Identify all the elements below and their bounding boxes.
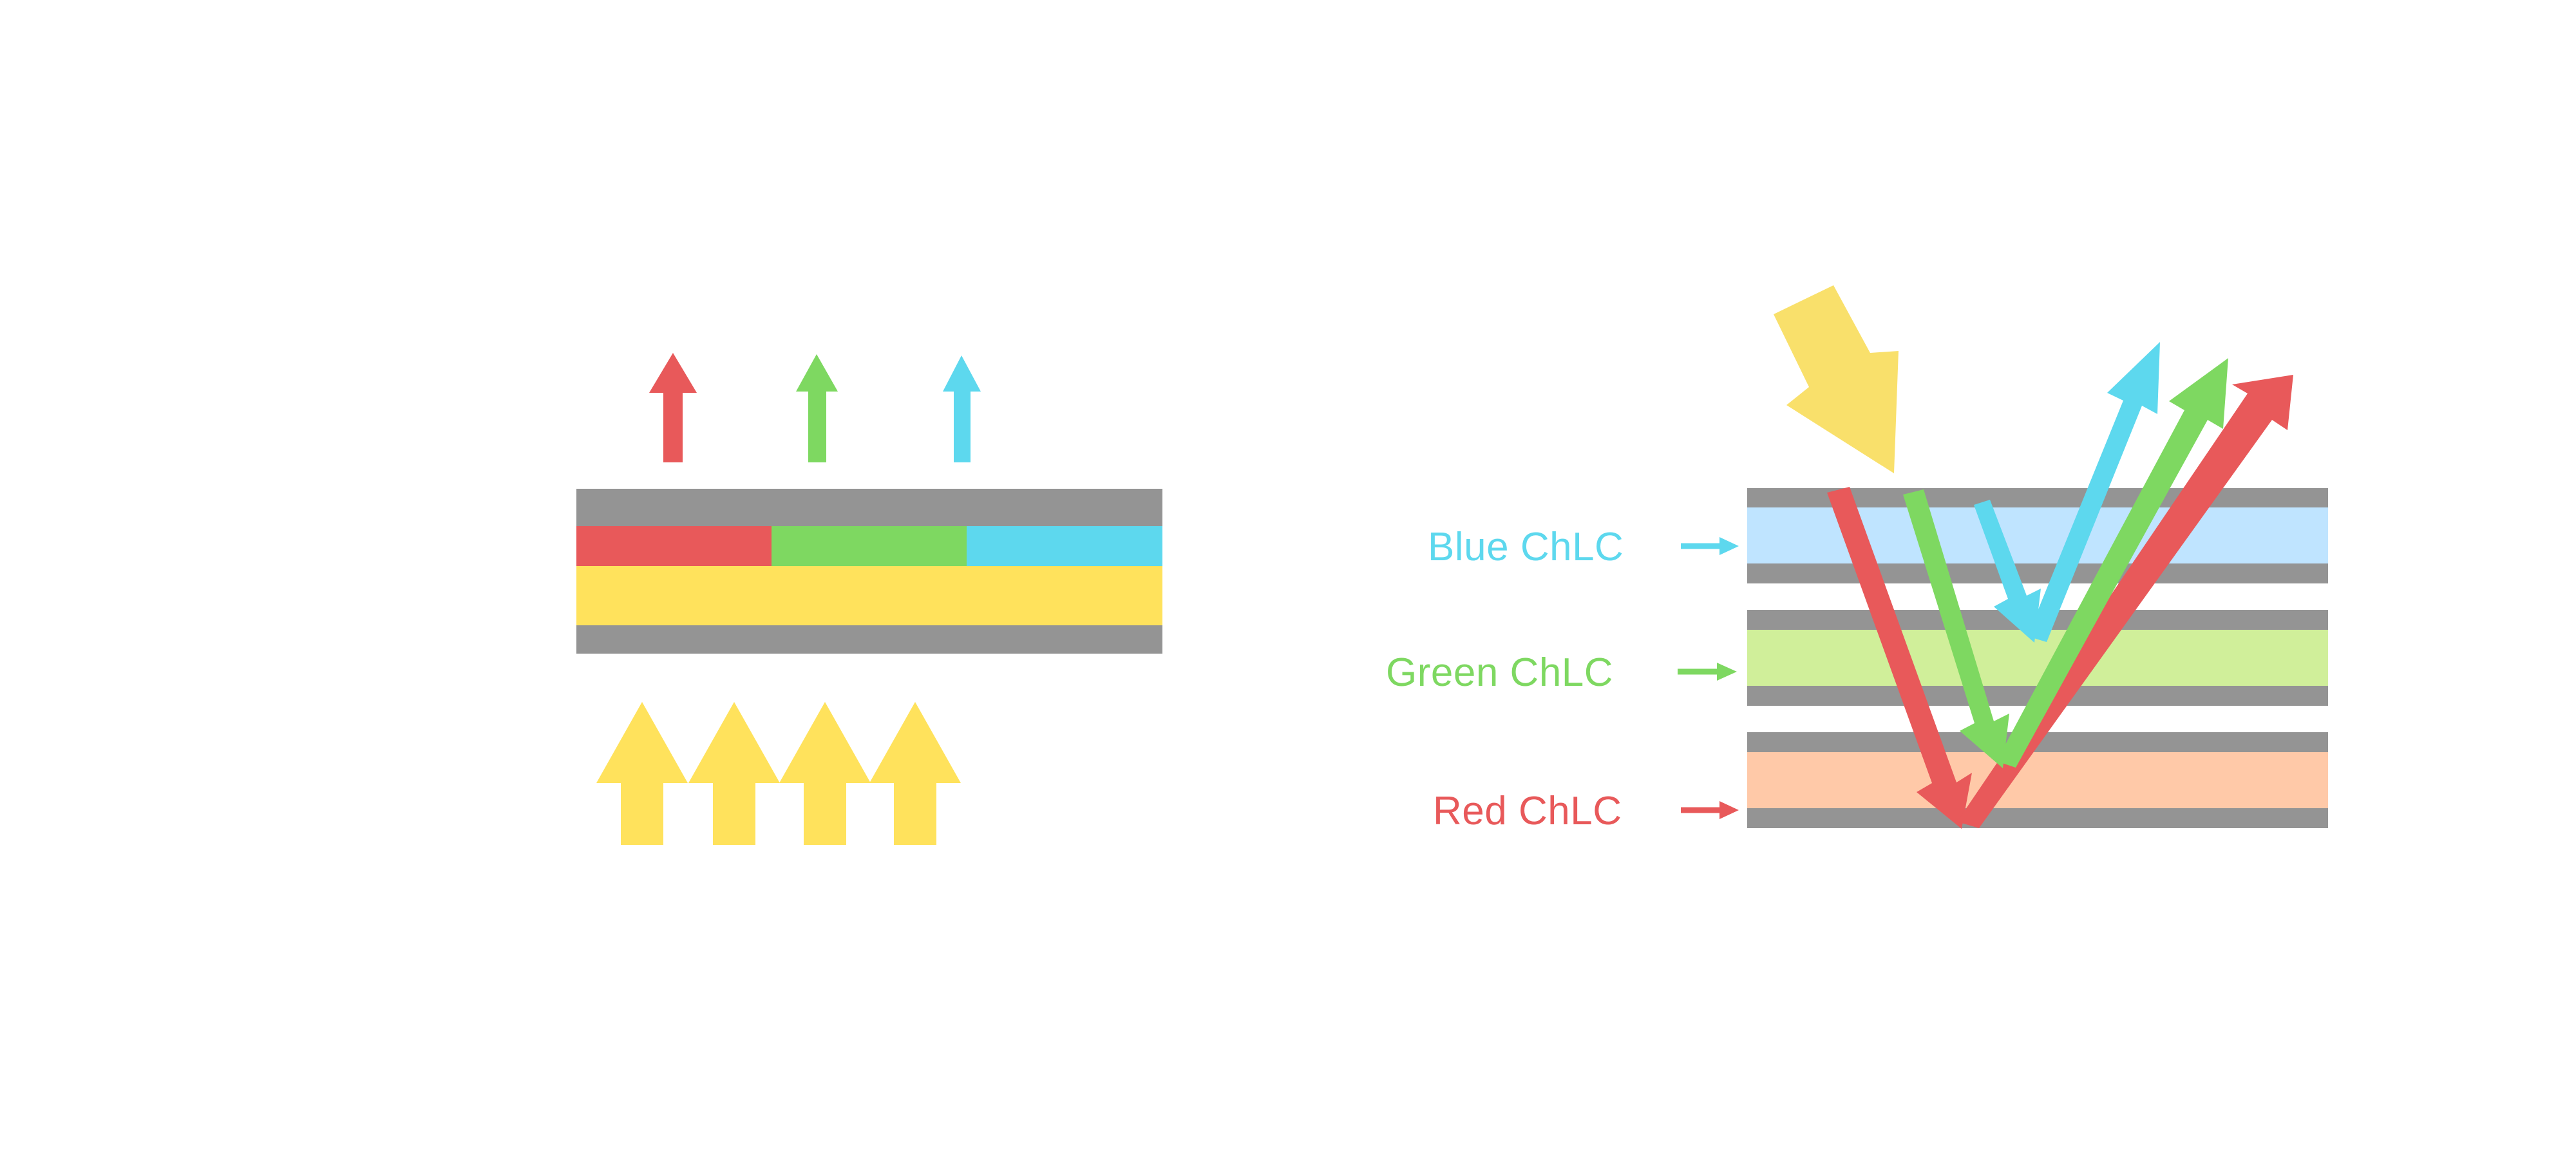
blue-group-bottom-electrode [1747, 563, 2328, 583]
blue-filter [967, 526, 1162, 566]
backlight-arrow-3 [779, 702, 871, 845]
green-label-arrow-icon [1678, 663, 1737, 681]
backlight-arrow-2 [688, 702, 780, 845]
blue-chlc-label: Blue ChLC [1428, 525, 1624, 569]
blue-emitted-arrow [943, 355, 981, 462]
red-emitted-arrow [649, 353, 697, 462]
red-chlc-layer [1747, 752, 2328, 808]
green-filter [772, 526, 967, 566]
blue-chlc-layer [1747, 507, 2328, 563]
figure-canvas: Blue ChLC Green ChLC Red ChLC [0, 0, 2576, 1154]
emissive-stack [576, 489, 1162, 654]
backlight-layer [576, 566, 1162, 625]
bottom-electrode [576, 625, 1162, 654]
red-chlc-group [1747, 732, 2328, 828]
white-light-incident-arrow [1774, 285, 1899, 473]
backlight-arrow-4 [869, 702, 961, 845]
backlight-arrow-1 [596, 702, 688, 845]
red-filter [576, 526, 772, 566]
red-label-arrow-icon [1681, 801, 1739, 819]
red-group-bottom-electrode [1747, 808, 2328, 828]
red-chlc-label: Red ChLC [1433, 789, 1622, 833]
green-chlc-label: Green ChLC [1386, 650, 1613, 695]
blue-label-arrow-icon [1681, 537, 1739, 555]
green-emitted-arrow [796, 354, 838, 462]
reflective-chlc-stack-panel: Blue ChLC Green ChLC Red ChLC [1386, 285, 2328, 833]
diagram-svg: Blue ChLC Green ChLC Red ChLC [0, 0, 2576, 1154]
top-electrode [576, 489, 1162, 526]
emissive-stack-panel [576, 353, 1162, 845]
